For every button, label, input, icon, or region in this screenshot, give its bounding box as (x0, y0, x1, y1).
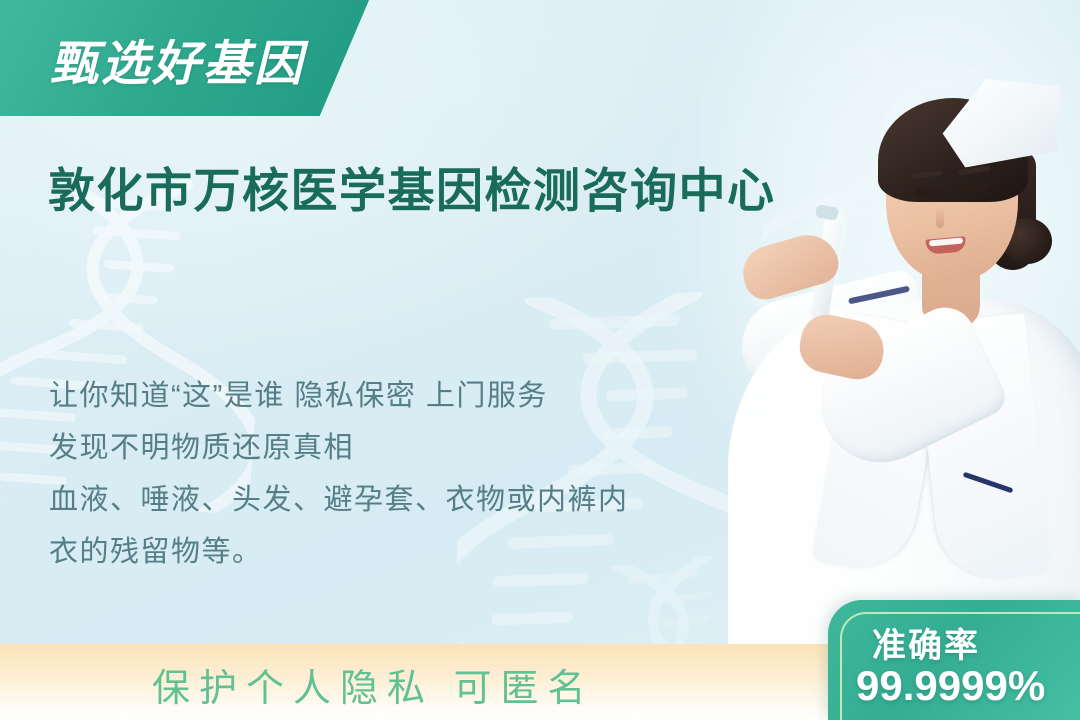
page-title: 敦化市万核医学基因检测咨询中心 (48, 152, 776, 221)
nurse-nose (936, 206, 944, 228)
body-line: 让你知道“这”是谁 隐私保密 上门服务 (49, 370, 749, 422)
accuracy-badge: 准确率 99.9999% (828, 600, 1080, 720)
bottom-slogan: 保护个人隐私 可匿名 (152, 657, 595, 712)
body-line: 血液、唾液、头发、避孕套、衣物或内裤内 (49, 474, 749, 526)
promo-banner-root: 甄选好基因 敦化市万核医学基因检测咨询中心 让你知道“这”是谁 隐私保密 上门服… (0, 0, 1080, 720)
body-line: 发现不明物质还原真相 (49, 422, 749, 474)
nurse-photo (700, 0, 1080, 680)
brand-banner-text: 甄选好基因 (50, 24, 340, 94)
body-line: 衣的残留物等。 (49, 526, 749, 578)
body-copy: 让你知道“这”是谁 隐私保密 上门服务 发现不明物质还原真相 血液、唾液、头发、… (49, 370, 749, 578)
accuracy-badge-label: 准确率 (872, 618, 980, 667)
accuracy-badge-value: 99.9999% (856, 662, 1045, 710)
